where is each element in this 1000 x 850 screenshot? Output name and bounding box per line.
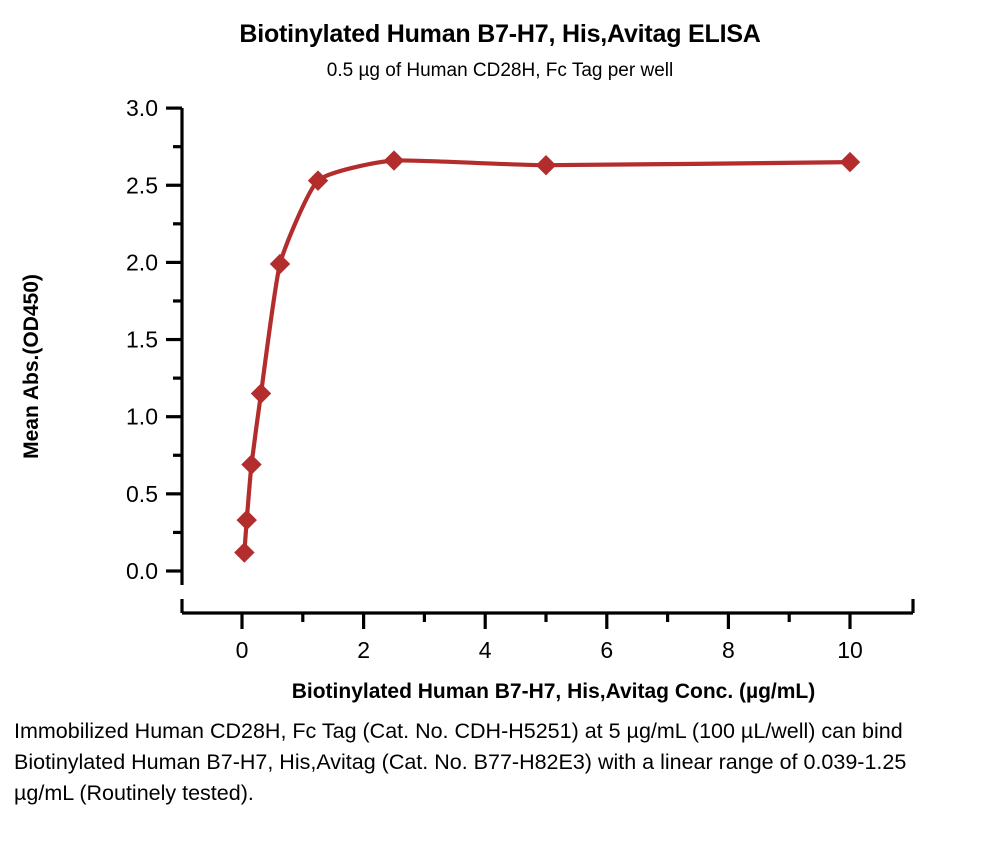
x-tick-label: 10	[837, 637, 863, 663]
x-tick-label: 8	[722, 637, 735, 663]
elisa-binding-curve: 0.00.51.01.52.02.53.00246810Biotinylated…	[0, 90, 1000, 705]
y-axis-title: Mean Abs.(OD450)	[20, 274, 43, 459]
figure-container: Biotinylated Human B7-H7, His,Avitag ELI…	[0, 0, 1000, 850]
y-tick-label: 1.0	[126, 404, 158, 430]
data-point-marker	[252, 384, 271, 403]
data-point-marker	[537, 156, 556, 175]
x-tick-label: 2	[357, 637, 370, 663]
data-point-marker	[242, 455, 261, 474]
y-tick-label: 2.0	[126, 249, 158, 275]
figure-caption: Immobilized Human CD28H, Fc Tag (Cat. No…	[14, 716, 914, 809]
y-tick-label: 0.5	[126, 481, 158, 507]
x-tick-label: 6	[600, 637, 613, 663]
chart-subtitle: 0.5 µg of Human CD28H, Fc Tag per well	[0, 60, 1000, 82]
y-tick-label: 0.0	[126, 558, 158, 584]
data-point-marker	[385, 151, 404, 170]
y-tick-label: 1.5	[126, 327, 158, 353]
plot-area: 0.00.51.01.52.02.53.00246810Biotinylated…	[0, 90, 1000, 705]
y-tick-label: 3.0	[126, 95, 158, 121]
data-point-marker	[235, 543, 254, 562]
chart-title: Biotinylated Human B7-H7, His,Avitag ELI…	[0, 20, 1000, 49]
x-tick-label: 4	[479, 637, 492, 663]
x-axis-title: Biotinylated Human B7-H7, His,Avitag Con…	[292, 680, 816, 703]
data-curve	[244, 160, 850, 552]
data-point-marker	[841, 153, 860, 172]
x-tick-label: 0	[236, 637, 249, 663]
data-point-marker	[271, 254, 290, 273]
y-tick-label: 2.5	[126, 172, 158, 198]
data-point-marker	[237, 511, 256, 530]
